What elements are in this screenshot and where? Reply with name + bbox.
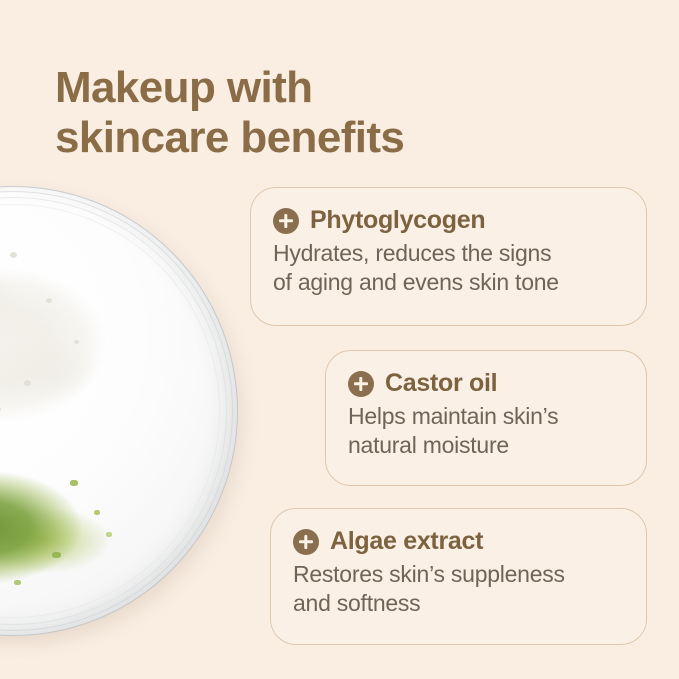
powder-speck <box>46 298 52 303</box>
white-powder <box>0 238 130 443</box>
benefit-title: Algae extract <box>330 527 483 556</box>
green-speck <box>70 480 78 486</box>
benefit-description-line-1: Restores skin’s suppleness <box>293 560 624 589</box>
powder-speck <box>0 406 1 412</box>
plate-rim-ring <box>0 204 220 618</box>
benefit-description: Helps maintain skin’s natural moisture <box>348 402 624 461</box>
powder-speck <box>24 380 31 386</box>
benefit-description-line-2: natural moisture <box>348 431 624 460</box>
product-photo <box>0 180 260 679</box>
promo-graphic: Makeup with skincare benefits Phytoglyco… <box>0 0 679 679</box>
plate-shadow <box>0 194 245 644</box>
benefit-description-line-1: Helps maintain skin’s <box>348 402 624 431</box>
green-speck <box>106 532 112 537</box>
benefit-description-line-2: and softness <box>293 589 624 618</box>
plate-rim-ring <box>0 197 227 625</box>
page-title: Makeup with skincare benefits <box>55 63 575 162</box>
green-speck <box>14 580 21 585</box>
benefit-description-line-1: Hydrates, reduces the signs <box>273 239 624 268</box>
powder-speck <box>74 340 79 344</box>
petri-dish <box>0 186 238 636</box>
benefit-description: Restores skin’s suppleness and softness <box>293 560 624 619</box>
benefit-title: Castor oil <box>385 369 497 398</box>
green-powder <box>0 448 130 613</box>
benefit-card-algae-extract[interactable]: Algae extract Restores skin’s suppleness… <box>270 508 647 645</box>
benefit-description-line-2: of aging and evens skin tone <box>273 268 624 297</box>
powder-speck <box>10 252 17 258</box>
benefit-card-header: Phytoglycogen <box>273 206 624 235</box>
green-speck <box>52 552 61 558</box>
benefit-description: Hydrates, reduces the signs of aging and… <box>273 239 624 298</box>
benefit-card-header: Algae extract <box>293 527 624 556</box>
plate-rim-ring <box>0 186 238 636</box>
plate-rim-ring <box>0 191 233 631</box>
benefit-card-phytoglycogen[interactable]: Phytoglycogen Hydrates, reduces the sign… <box>250 187 647 326</box>
benefit-card-castor-oil[interactable]: Castor oil Helps maintain skin’s natural… <box>325 350 647 486</box>
plus-icon <box>293 529 319 555</box>
green-speck <box>94 510 100 515</box>
page-title-line-2: skincare benefits <box>55 113 575 163</box>
benefit-title: Phytoglycogen <box>310 206 485 235</box>
benefit-card-header: Castor oil <box>348 369 624 398</box>
page-title-line-1: Makeup with <box>55 63 575 113</box>
plus-icon <box>273 208 299 234</box>
plus-icon <box>348 371 374 397</box>
